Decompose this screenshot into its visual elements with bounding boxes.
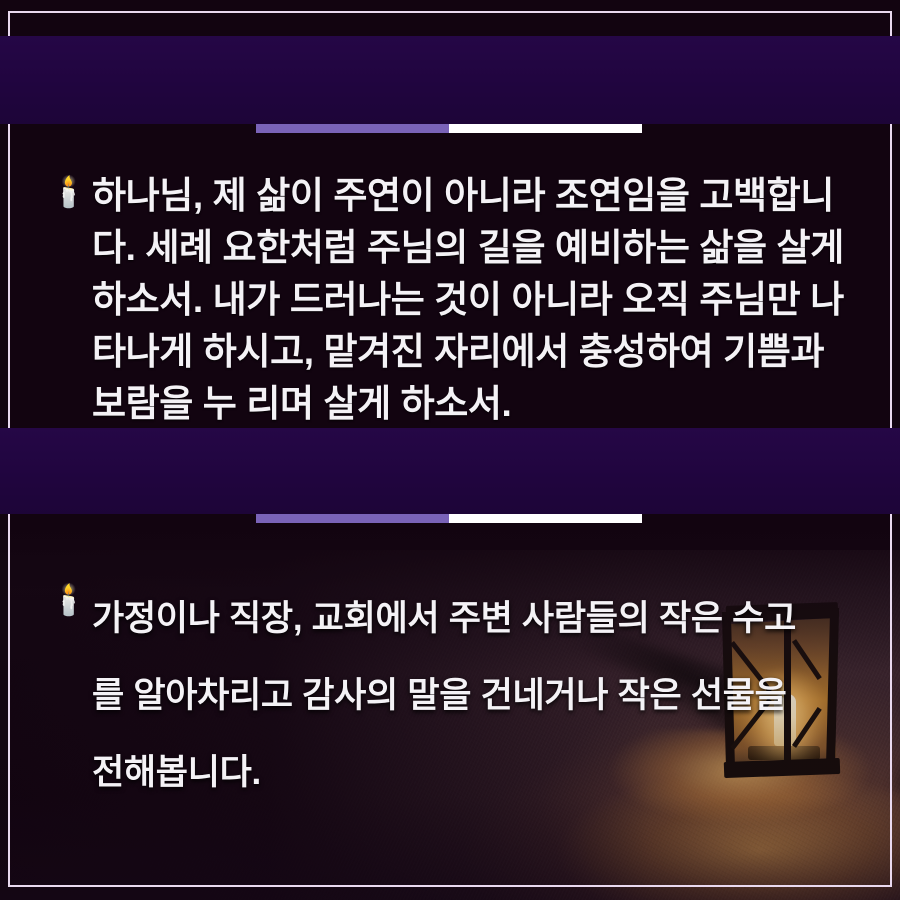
section-rule-prayer bbox=[256, 124, 642, 133]
life-lines: 가정이나 직장, 교회에서 주변 사람들의 작은 수고 를 알아차리고 감사의 … bbox=[92, 580, 880, 811]
rule-left-segment bbox=[256, 514, 449, 523]
prayer-text-block: 🕯️ 하나님, 제 삶이 주연이 아니라 조연임을 고백합니 다. 세례 요한처… bbox=[50, 170, 880, 430]
devotional-card: 기도로 이음 🕯️ 하나님, 제 삶이 주연이 아니라 조연임을 고백합니 다.… bbox=[0, 0, 900, 900]
prayer-line: 하소서. 내가 드러나는 것이 아니라 오직 주님만 나 bbox=[92, 274, 880, 326]
section-title-life: 삶으로 이음 bbox=[0, 444, 900, 508]
rule-right-segment bbox=[449, 514, 642, 523]
rule-left-segment bbox=[256, 124, 449, 133]
section-title-prayer: 기도로 이음 bbox=[0, 52, 900, 116]
prayer-line: 하나님, 제 삶이 주연이 아니라 조연임을 고백합니 bbox=[92, 170, 880, 222]
section-rule-life bbox=[256, 514, 642, 523]
prayer-line: 보람을 누 리며 살게 하소서. bbox=[92, 378, 880, 430]
life-text-block: 🕯️ 가정이나 직장, 교회에서 주변 사람들의 작은 수고 를 알아차리고 감… bbox=[50, 580, 880, 811]
prayer-line: 다. 세례 요한처럼 주님의 길을 예비하는 삶을 살게 bbox=[92, 222, 880, 274]
life-line: 가정이나 직장, 교회에서 주변 사람들의 작은 수고 bbox=[92, 580, 880, 657]
rule-right-segment bbox=[449, 124, 642, 133]
candle-bullet-icon: 🕯️ bbox=[50, 178, 84, 208]
life-line: 전해봅니다. bbox=[92, 734, 880, 811]
life-line: 를 알아차리고 감사의 말을 건네거나 작은 선물을 bbox=[92, 657, 880, 734]
candle-bullet-icon: 🕯️ bbox=[50, 586, 84, 616]
prayer-line: 타나게 하시고, 맡겨진 자리에서 충성하여 기쁨과 bbox=[92, 326, 880, 378]
prayer-lines: 하나님, 제 삶이 주연이 아니라 조연임을 고백합니 다. 세례 요한처럼 주… bbox=[92, 170, 880, 430]
